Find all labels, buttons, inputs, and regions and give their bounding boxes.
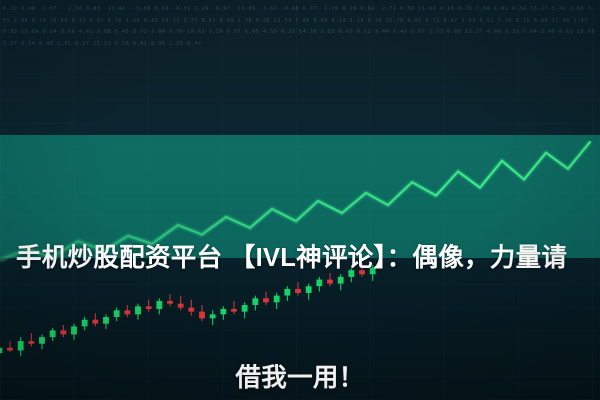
headline: 手机炒股配资平台 【IVL神评论】：偶像，力量请 借我一用！	[0, 158, 600, 400]
headline-line-2: 借我一用！	[16, 358, 584, 398]
top-data-panel	[0, 0, 600, 135]
headline-line-1: 手机炒股配资平台 【IVL神评论】：偶像，力量请	[16, 238, 584, 278]
banner-image: 0.12 3.48 1.07 2.56 0.83 17.42 5.09 0.64…	[0, 0, 600, 400]
